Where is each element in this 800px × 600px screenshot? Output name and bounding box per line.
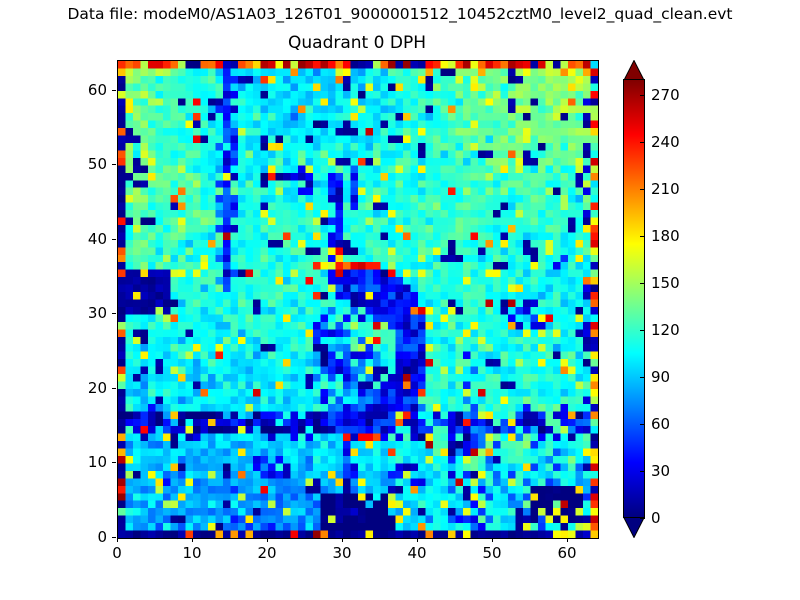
colorbar-tick-mark [640,283,645,284]
x-tick-label: 60 [537,545,597,561]
x-tick-label: 20 [237,545,297,561]
y-tick-label: 0 [47,529,107,545]
y-tick-mark [112,537,116,538]
plot-title: Quadrant 0 DPH [117,32,597,54]
colorbar-extend-max-arrow [623,60,645,80]
colorbar-extend-min-arrow [623,517,645,537]
y-tick-label: 30 [47,305,107,321]
y-tick-label: 50 [47,156,107,172]
x-tick-mark [417,538,418,542]
y-tick-mark [112,313,116,314]
colorbar-tick-label: 150 [651,275,680,291]
colorbar[interactable]: 0306090120150180210240270 [623,60,645,537]
colorbar-tick-mark [640,236,645,237]
y-tick-label: 20 [47,380,107,396]
colorbar-tick-label: 60 [651,416,670,432]
x-tick-mark [192,538,193,542]
x-tick-mark [267,538,268,542]
colorbar-tick-mark [640,189,645,190]
x-tick-label: 40 [387,545,447,561]
colorbar-tick-label: 240 [651,134,680,150]
figure-canvas: Data file: modeM0/AS1A03_126T01_90000015… [0,0,800,600]
y-tick-mark [112,239,116,240]
x-tick-label: 10 [162,545,222,561]
colorbar-tick-mark [640,471,645,472]
heatmap-axes[interactable] [117,60,599,539]
x-tick-mark [342,538,343,542]
y-tick-mark [112,462,116,463]
colorbar-tick-mark [640,95,645,96]
colorbar-tick-label: 90 [651,369,670,385]
x-tick-label: 30 [312,545,372,561]
y-tick-mark [112,164,116,165]
colorbar-tick-mark [640,142,645,143]
x-tick-label: 50 [462,545,522,561]
colorbar-tick-mark [640,377,645,378]
y-tick-label: 10 [47,454,107,470]
x-tick-mark [492,538,493,542]
y-tick-mark [112,90,116,91]
colorbar-tick-label: 0 [651,510,661,526]
colorbar-tick-label: 120 [651,322,680,338]
colorbar-tick-mark [640,518,645,519]
data-file-label: Data file: modeM0/AS1A03_126T01_90000015… [0,4,800,24]
x-tick-mark [567,538,568,542]
colorbar-tick-label: 210 [651,181,680,197]
dph-heatmap-image[interactable] [118,61,598,538]
colorbar-tick-label: 270 [651,87,680,103]
y-tick-label: 40 [47,231,107,247]
colorbar-tick-label: 30 [651,463,670,479]
colorbar-gradient [623,79,645,518]
colorbar-tick-label: 180 [651,228,680,244]
y-tick-mark [112,388,116,389]
y-tick-label: 60 [47,82,107,98]
x-tick-mark [117,538,118,542]
colorbar-tick-mark [640,424,645,425]
colorbar-tick-mark [640,330,645,331]
x-tick-label: 0 [87,545,147,561]
